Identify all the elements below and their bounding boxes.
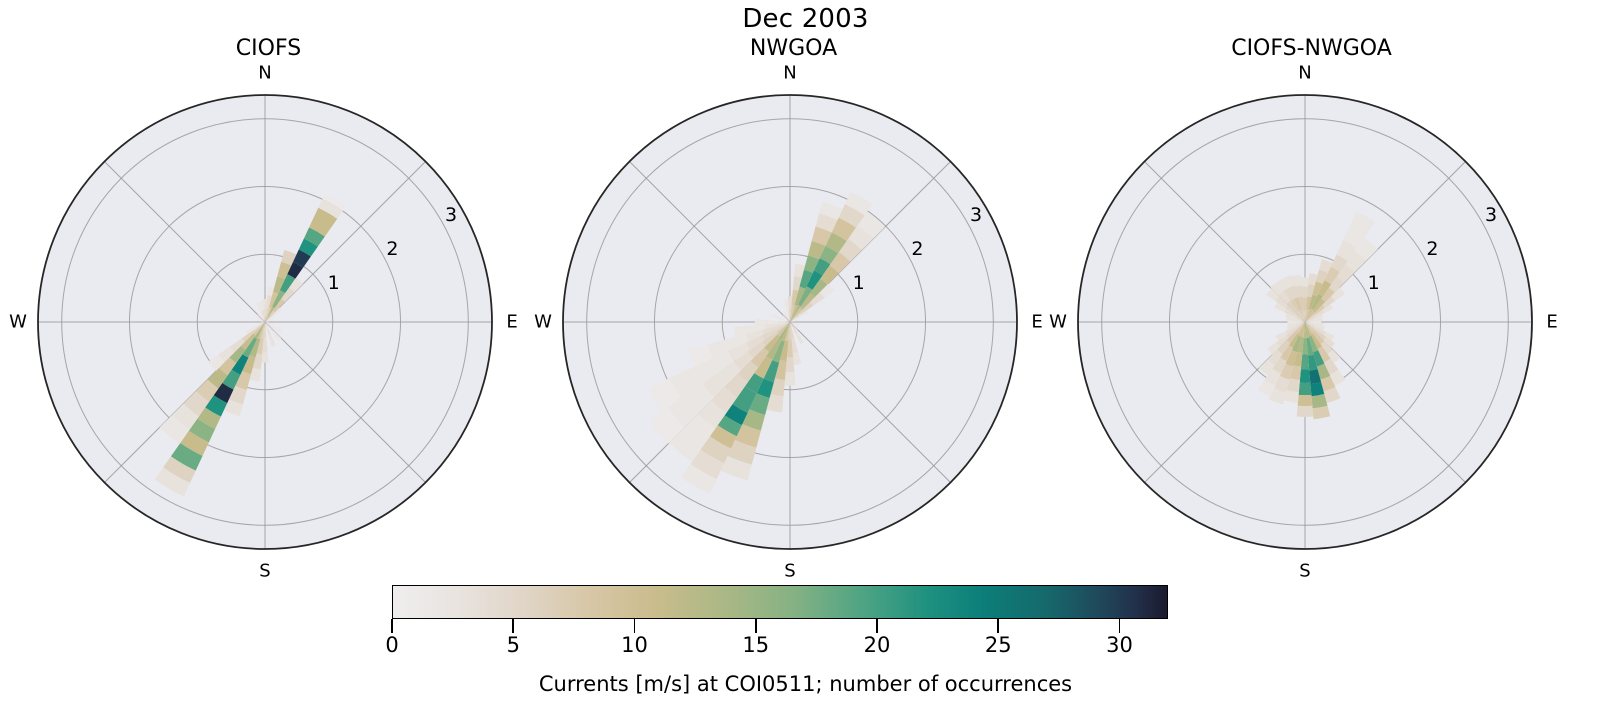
colorbar-tick-label: 10 [621, 633, 648, 657]
figure-root: Dec 2003 CIOFS NESW123 NWGOA NESW123 CIO… [0, 0, 1611, 724]
polar-axes [525, 0, 1062, 590]
colorbar[interactable]: 051015202530 [392, 585, 1168, 619]
windrose-segment [1302, 287, 1308, 298]
direction-label-east: E [1031, 312, 1042, 333]
colorbar-tick [512, 619, 514, 633]
colorbar-tick [1119, 619, 1121, 633]
radial-tick-label: 1 [328, 272, 340, 294]
polar-panel-nwgoa: NWGOA NESW123 [525, 0, 1062, 590]
windrose-segment [1299, 383, 1312, 395]
radial-tick-label: 3 [1485, 204, 1497, 226]
colorbar-tick-labels: 051015202530 [392, 633, 1168, 659]
windrose-segment [1301, 277, 1309, 287]
windrose-segment [1300, 369, 1311, 383]
colorbar-gradient [392, 585, 1168, 619]
radial-tick-label: 2 [386, 238, 398, 260]
direction-label-north: N [783, 63, 796, 84]
direction-label-north: N [258, 63, 271, 84]
windrose-plot-ciofs[interactable]: NESW123 [0, 0, 537, 590]
polar-axes [1043, 0, 1580, 590]
windrose-segment [261, 352, 268, 363]
colorbar-tick-label: 5 [507, 633, 520, 657]
windrose-plot-nwgoa[interactable]: NESW123 [525, 0, 1062, 590]
direction-label-east: E [506, 312, 517, 333]
windrose-segment [784, 372, 795, 386]
windrose-segment [1297, 406, 1314, 417]
colorbar-tick-label: 15 [742, 633, 769, 657]
colorbar-tick-label: 20 [864, 633, 891, 657]
windrose-segment [1301, 354, 1309, 369]
colorbar-tick [997, 619, 999, 633]
windrose-segment [1298, 395, 1313, 406]
direction-label-south: S [1299, 561, 1310, 582]
colorbar-tick-label: 0 [385, 633, 398, 657]
radial-tick-label: 1 [853, 272, 865, 294]
radial-tick-label: 2 [911, 238, 923, 260]
colorbar-tick-label: 30 [1106, 633, 1133, 657]
polar-panel-ciofs: CIOFS NESW123 [0, 0, 537, 590]
direction-label-south: S [784, 561, 795, 582]
direction-label-north: N [1298, 63, 1311, 84]
radial-tick-label: 3 [445, 204, 457, 226]
windrose-segment [755, 319, 767, 325]
direction-label-south: S [259, 561, 270, 582]
polar-axes [0, 0, 537, 590]
colorbar-tick [391, 619, 393, 633]
colorbar-tick [755, 619, 757, 633]
colorbar-tick-label: 25 [985, 633, 1012, 657]
colorbar-tick [876, 619, 878, 633]
colorbar-ticks [392, 619, 1168, 633]
windrose-segment [786, 357, 795, 372]
colorbar-tick [634, 619, 636, 633]
direction-label-west: W [1049, 312, 1067, 333]
direction-label-east: E [1546, 312, 1557, 333]
radial-tick-label: 1 [1368, 272, 1380, 294]
windrose-plot-ciofs-nwgoa[interactable]: NESW123 [1043, 0, 1580, 590]
colorbar-caption: Currents [m/s] at COI0511; number of occ… [0, 672, 1611, 696]
direction-label-west: W [534, 312, 552, 333]
radial-tick-label: 2 [1426, 238, 1438, 260]
polar-panel-ciofs-nwgoa: CIOFS-NWGOA NESW123 [1043, 0, 1580, 590]
direction-label-west: W [9, 312, 27, 333]
radial-tick-label: 3 [970, 204, 982, 226]
